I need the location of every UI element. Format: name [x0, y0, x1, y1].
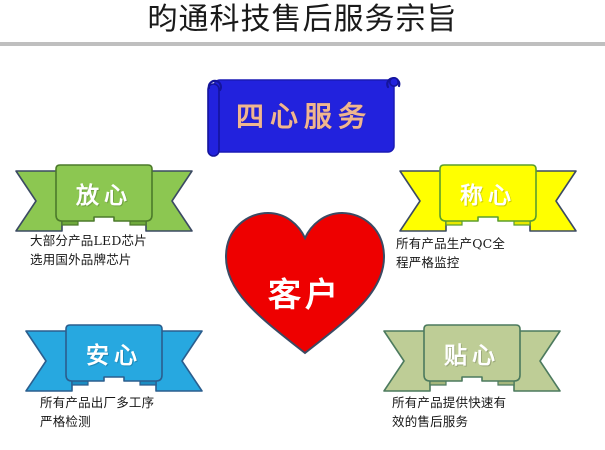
ribbon-banner-chenxin: 称心 [398, 163, 578, 241]
ribbon-caption-tiexin: 所有产品提供快速有 效的售后服务 [392, 393, 570, 431]
slide-title-area: 昀通科技售后服务宗旨 [0, 0, 605, 44]
caption-line: 严格检测 [40, 412, 218, 431]
slide-canvas: 昀通科技售后服务宗旨 四心服务 客户 [0, 0, 605, 450]
ribbon-banner-fangxin: 放心 [14, 163, 194, 241]
ribbon-caption-anxin: 所有产品出厂多工序 严格检测 [40, 393, 218, 431]
page-title: 昀通科技售后服务宗旨 [0, 2, 605, 38]
caption-line: 大部分产品LED芯片 [30, 231, 208, 250]
center-scroll-banner: 四心服务 [200, 66, 408, 164]
caption-line: 所有产品生产QC全 [396, 234, 574, 253]
caption-line: 所有产品提供快速有 [392, 393, 570, 412]
caption-line: 效的售后服务 [392, 412, 570, 431]
caption-line: 选用国外品牌芯片 [30, 250, 208, 269]
caption-line: 程严格监控 [396, 253, 574, 272]
ribbon-caption-fangxin: 大部分产品LED芯片 选用国外品牌芯片 [30, 231, 208, 269]
ribbon-shape-icon [382, 323, 562, 401]
heart-icon [222, 207, 388, 355]
ribbon-banner-tiexin: 贴心 [382, 323, 562, 401]
caption-line: 所有产品出厂多工序 [40, 393, 218, 412]
ribbon-caption-chenxin: 所有产品生产QC全 程严格监控 [396, 234, 574, 272]
title-divider [0, 42, 605, 46]
customer-heart: 客户 [222, 207, 388, 355]
ribbon-shape-icon [398, 163, 578, 241]
scroll-shape-icon [200, 66, 408, 164]
ribbon-shape-icon [14, 163, 194, 241]
ribbon-banner-anxin: 安心 [24, 323, 204, 401]
ribbon-shape-icon [24, 323, 204, 401]
